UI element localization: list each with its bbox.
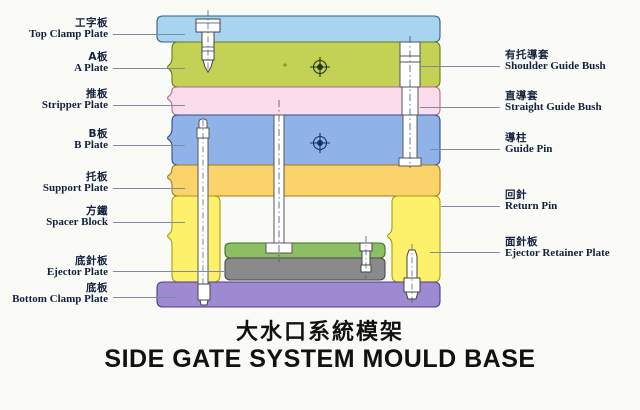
label-en: A Plate xyxy=(74,63,108,75)
leader-line xyxy=(113,297,176,298)
label-en: Support Plate xyxy=(43,183,108,195)
label-en: Straight Guide Bush xyxy=(505,102,602,114)
leader-line xyxy=(113,68,185,69)
stripper-plate xyxy=(168,87,441,115)
label-stripper-plate: 推板 Stripper Plate xyxy=(42,89,108,112)
label-support-plate: 托板 Support Plate xyxy=(43,172,108,195)
leader-line xyxy=(113,188,185,189)
leader-line xyxy=(441,206,500,207)
label-en: Spacer Block xyxy=(46,217,108,229)
leader-line xyxy=(420,107,500,108)
guide-pin xyxy=(197,119,209,300)
label-top-clamp-plate: 工字板 Top Clamp Plate xyxy=(29,18,108,41)
leader-line xyxy=(113,105,185,106)
diagram-page: 工字板 Top Clamp Plate A板 A Plate 推板 Stripp… xyxy=(0,0,640,410)
label-spacer-block: 方鐵 Spacer Block xyxy=(46,206,108,229)
label-en: Shoulder Guide Bush xyxy=(505,61,606,73)
label-bottom-clamp-plate: 底板 Bottom Clamp Plate xyxy=(12,283,108,306)
title-chinese: 大水口系統模架 xyxy=(0,314,640,346)
leader-line xyxy=(430,149,500,150)
leader-line xyxy=(430,252,500,253)
label-b-plate: B板 B Plate xyxy=(74,129,108,152)
label-shoulder-guide-bush: 有托導套 Shoulder Guide Bush xyxy=(505,50,606,73)
label-ejector-plate: 底針板 Ejector Plate xyxy=(47,256,108,279)
spacer-block xyxy=(168,196,221,282)
label-en: Top Clamp Plate xyxy=(29,29,108,41)
leader-line xyxy=(113,145,185,146)
label-return-pin: 回針 Return Pin xyxy=(505,190,557,213)
label-ejector-retainer-plate: 面針板 Ejector Retainer Plate xyxy=(505,237,610,260)
title-english: SIDE GATE SYSTEM MOULD BASE xyxy=(0,345,640,374)
label-en: Stripper Plate xyxy=(42,100,108,112)
label-en: Ejector Retainer Plate xyxy=(505,248,610,260)
label-guide-pin: 導柱 Guide Pin xyxy=(505,133,552,156)
label-en: Return Pin xyxy=(505,201,557,213)
label-en: Guide Pin xyxy=(505,144,552,156)
label-en: Bottom Clamp Plate xyxy=(12,294,108,306)
label-a-plate: A板 A Plate xyxy=(74,52,108,75)
leader-line xyxy=(113,271,245,272)
speck xyxy=(283,63,286,66)
leader-line xyxy=(113,222,185,223)
leader-line xyxy=(420,66,500,67)
return-pin xyxy=(360,236,372,278)
leader-line xyxy=(113,34,185,35)
label-straight-guide-bush: 直導套 Straight Guide Bush xyxy=(505,91,602,114)
label-en: Ejector Plate xyxy=(47,267,108,279)
label-en: B Plate xyxy=(74,140,108,152)
